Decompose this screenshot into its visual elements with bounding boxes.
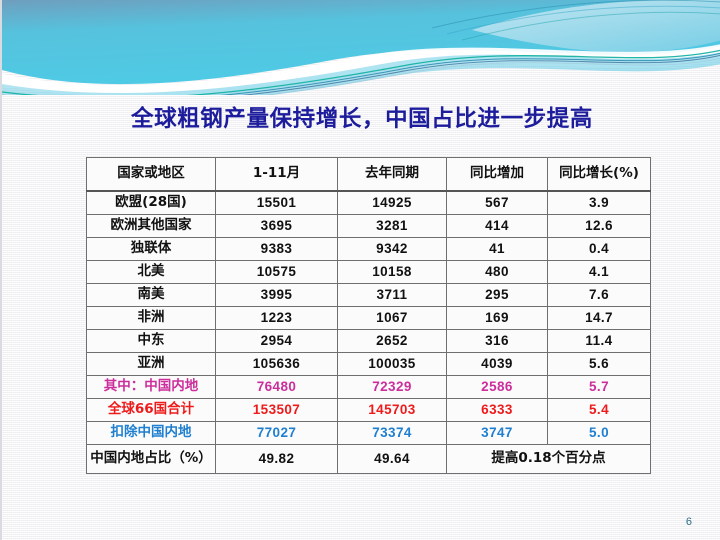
cell-region: 亚洲	[87, 353, 216, 376]
cell-current: 153507	[216, 399, 338, 422]
cell-share-previous: 49.64	[338, 445, 447, 474]
cell-share-current: 49.82	[216, 445, 338, 474]
cell-region: 独联体	[87, 238, 216, 261]
cell-previous: 14925	[338, 191, 447, 215]
cell-region: 欧盟(28国)	[87, 191, 216, 215]
cell-region: 其中：中国内地	[87, 376, 216, 399]
cell-region: 北美	[87, 261, 216, 284]
column-header-current: 1-11月	[216, 158, 338, 192]
table-row-global-total: 全球66国合计 153507 145703 6333 5.4	[87, 399, 651, 422]
cell-previous: 145703	[338, 399, 447, 422]
table-row: 欧洲其他国家 3695 3281 414 12.6	[87, 215, 651, 238]
table-row-china-mainland: 其中：中国内地 76480 72329 2586 5.7	[87, 376, 651, 399]
cell-increase: 169	[447, 307, 548, 330]
cell-growth: 5.4	[548, 399, 651, 422]
cell-increase: 480	[447, 261, 548, 284]
cell-current: 2954	[216, 330, 338, 353]
cell-growth: 5.0	[548, 422, 651, 445]
cell-growth: 3.9	[548, 191, 651, 215]
cell-region: 全球66国合计	[87, 399, 216, 422]
table-row: 南美 3995 3711 295 7.6	[87, 284, 651, 307]
cell-growth: 12.6	[548, 215, 651, 238]
cell-current: 77027	[216, 422, 338, 445]
cell-previous: 72329	[338, 376, 447, 399]
cell-current: 9383	[216, 238, 338, 261]
table-row-china-share: 中国内地占比（%） 49.82 49.64 提高0.18个百分点	[87, 445, 651, 474]
cell-increase: 2586	[447, 376, 548, 399]
table-row: 中东 2954 2652 316 11.4	[87, 330, 651, 353]
cell-current: 3995	[216, 284, 338, 307]
table-row: 欧盟(28国) 15501 14925 567 3.9	[87, 191, 651, 215]
cell-growth: 7.6	[548, 284, 651, 307]
table-row: 亚洲 105636 100035 4039 5.6	[87, 353, 651, 376]
cell-current: 76480	[216, 376, 338, 399]
cell-increase: 41	[447, 238, 548, 261]
column-header-growth-pct: 同比增长(%)	[548, 158, 651, 192]
cell-increase: 414	[447, 215, 548, 238]
page-title: 全球粗钢产量保持增长，中国占比进一步提高	[2, 101, 720, 133]
cell-previous: 3711	[338, 284, 447, 307]
column-header-increase: 同比增加	[447, 158, 548, 192]
crude-steel-output-table: 国家或地区 1-11月 去年同期 同比增加 同比增长(%) 欧盟(28国) 15…	[86, 157, 650, 474]
cell-increase: 295	[447, 284, 548, 307]
table-row: 独联体 9383 9342 41 0.4	[87, 238, 651, 261]
cell-share-label: 中国内地占比（%）	[87, 445, 216, 474]
table-row: 北美 10575 10158 480 4.1	[87, 261, 651, 284]
cell-growth: 4.1	[548, 261, 651, 284]
cell-previous: 100035	[338, 353, 447, 376]
cell-region: 非洲	[87, 307, 216, 330]
cell-current: 105636	[216, 353, 338, 376]
cell-current: 15501	[216, 191, 338, 215]
slide-canvas: 全球粗钢产量保持增长，中国占比进一步提高 国家或地区 1-11月 去年同期 同比…	[0, 0, 720, 540]
cell-previous: 2652	[338, 330, 447, 353]
cell-increase: 4039	[447, 353, 548, 376]
cell-previous: 3281	[338, 215, 447, 238]
cell-region: 扣除中国内地	[87, 422, 216, 445]
cell-current: 10575	[216, 261, 338, 284]
cell-previous: 73374	[338, 422, 447, 445]
cell-region: 欧洲其他国家	[87, 215, 216, 238]
cell-increase: 6333	[447, 399, 548, 422]
cell-growth: 0.4	[548, 238, 651, 261]
table-row: 非洲 1223 1067 169 14.7	[87, 307, 651, 330]
cell-current: 3695	[216, 215, 338, 238]
cell-previous: 9342	[338, 238, 447, 261]
flow-wave-decoration	[2, 0, 720, 95]
cell-growth: 5.6	[548, 353, 651, 376]
column-header-previous: 去年同期	[338, 158, 447, 192]
column-header-region: 国家或地区	[87, 158, 216, 192]
cell-region: 中东	[87, 330, 216, 353]
cell-growth: 11.4	[548, 330, 651, 353]
slide-number: 6	[686, 516, 692, 528]
cell-growth: 5.7	[548, 376, 651, 399]
cell-increase: 3747	[447, 422, 548, 445]
cell-region: 南美	[87, 284, 216, 307]
cell-previous: 10158	[338, 261, 447, 284]
cell-previous: 1067	[338, 307, 447, 330]
cell-growth: 14.7	[548, 307, 651, 330]
table-row-excluding-china: 扣除中国内地 77027 73374 3747 5.0	[87, 422, 651, 445]
cell-share-note: 提高0.18个百分点	[447, 445, 651, 474]
table-header-row: 国家或地区 1-11月 去年同期 同比增加 同比增长(%)	[87, 158, 651, 192]
cell-increase: 316	[447, 330, 548, 353]
cell-current: 1223	[216, 307, 338, 330]
cell-increase: 567	[447, 191, 548, 215]
